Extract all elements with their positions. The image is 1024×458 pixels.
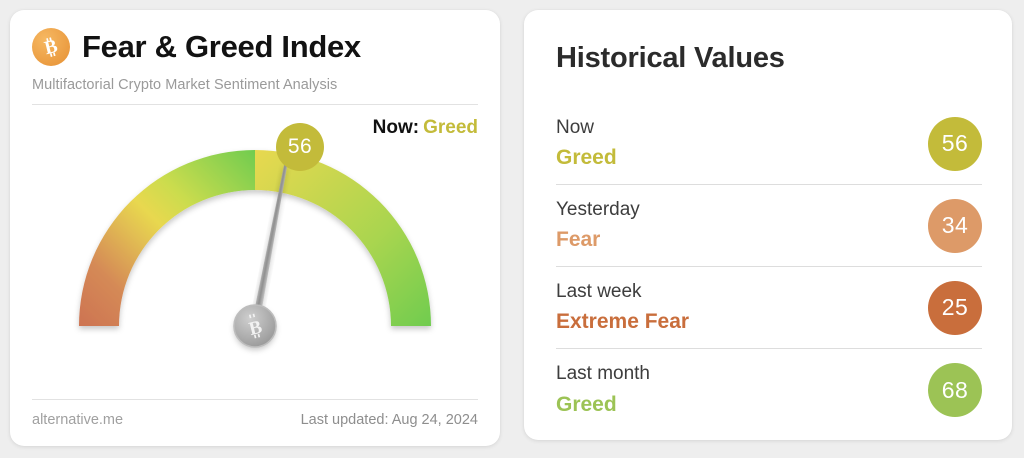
list-item[interactable]: Last week Extreme Fear 25 <box>556 267 982 349</box>
list-item-sentiment: Greed <box>556 146 928 169</box>
page-title: Fear & Greed Index <box>82 31 361 64</box>
gauge-container: B <box>10 128 500 396</box>
list-item-sentiment: Extreme Fear <box>556 310 928 333</box>
source-link[interactable]: alternative.me <box>32 412 123 428</box>
list-item[interactable]: Yesterday Fear 34 <box>556 185 982 267</box>
footer-divider <box>32 399 478 400</box>
page-root: B Fear & Greed Index Multifactorial Cryp… <box>0 0 1024 458</box>
historical-values-list: Now Greed 56 Yesterday Fear 34 Last we <box>556 103 982 431</box>
list-item-text: Yesterday Fear <box>556 200 928 252</box>
list-item-period: Last month <box>556 364 928 385</box>
list-item-value: 56 <box>942 130 969 157</box>
list-item-value-badge: 34 <box>928 199 982 253</box>
list-item-period: Yesterday <box>556 200 928 221</box>
list-item-text: Last week Extreme Fear <box>556 282 928 334</box>
list-item[interactable]: Last month Greed 68 <box>556 349 982 431</box>
fear-greed-gauge: B <box>55 128 455 378</box>
title-row: B Fear & Greed Index <box>32 24 478 70</box>
list-item-value-badge: 25 <box>928 281 982 335</box>
bitcoin-icon: B <box>32 28 70 66</box>
list-item-text: Now Greed <box>556 118 928 170</box>
bitcoin-hub-icon: B <box>234 305 276 347</box>
list-item-value: 25 <box>942 294 969 321</box>
list-item-sentiment: Fear <box>556 228 928 251</box>
gauge-arc <box>79 150 431 326</box>
historical-values-title: Historical Values <box>556 42 785 75</box>
last-updated-text: Last updated: Aug 24, 2024 <box>301 412 478 428</box>
list-item-value: 68 <box>942 377 969 404</box>
list-item-value-badge: 56 <box>928 117 982 171</box>
header-divider <box>32 104 478 105</box>
list-item-text: Last month Greed <box>556 364 928 416</box>
historical-values-card: Historical Values Now Greed 56 Yesterday… <box>524 10 1012 440</box>
gauge-card-footer: alternative.me Last updated: Aug 24, 202… <box>32 399 478 428</box>
gauge-card-header: B Fear & Greed Index Multifactorial Cryp… <box>32 24 478 105</box>
list-item[interactable]: Now Greed 56 <box>556 103 982 185</box>
gauge-value-badge: 56 <box>276 123 324 171</box>
list-item-period: Last week <box>556 282 928 303</box>
page-subtitle: Multifactorial Crypto Market Sentiment A… <box>32 77 478 93</box>
fear-greed-gauge-card: B Fear & Greed Index Multifactorial Cryp… <box>10 10 500 446</box>
gauge-value-text: 56 <box>288 135 312 159</box>
list-item-value: 34 <box>942 212 969 239</box>
list-item-value-badge: 68 <box>928 363 982 417</box>
list-item-sentiment: Greed <box>556 393 928 416</box>
list-item-period: Now <box>556 118 928 139</box>
footer-row: alternative.me Last updated: Aug 24, 202… <box>32 412 478 428</box>
